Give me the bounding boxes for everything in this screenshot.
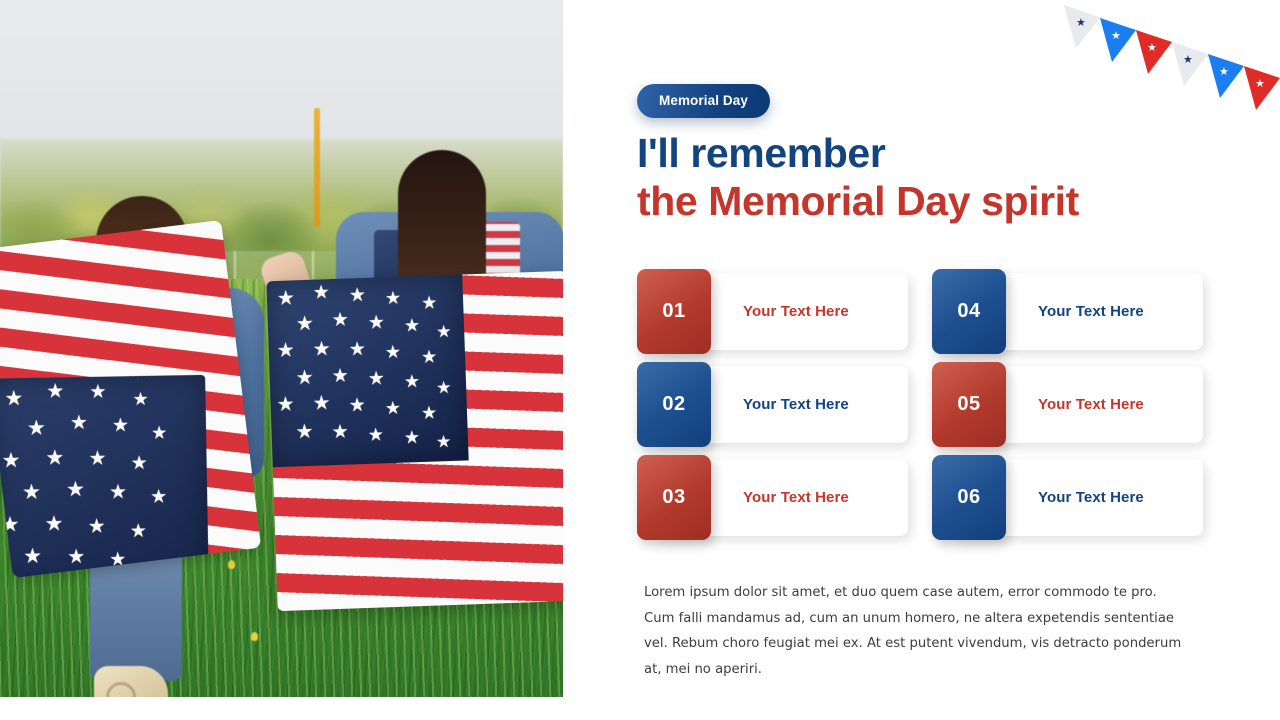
card-number: 02	[637, 362, 711, 447]
numbered-card[interactable]: 03 Your Text Here	[637, 455, 908, 540]
card-label: Your Text Here	[1006, 455, 1144, 540]
flag-union: ★ ★ ★ ★ ★ ★ ★ ★ ★ ★ ★ ★ ★ ★ ★ ★ ★ ★ ★ ★	[0, 375, 209, 578]
person-right-flag: ★ ★ ★ ★ ★ ★ ★ ★ ★ ★ ★ ★ ★ ★ ★ ★ ★ ★ ★ ★	[266, 271, 563, 611]
photo-flower	[251, 632, 258, 641]
flag-union: ★ ★ ★ ★ ★ ★ ★ ★ ★ ★ ★ ★ ★ ★ ★ ★ ★ ★ ★ ★	[266, 274, 468, 467]
numbered-card[interactable]: 05 Your Text Here	[932, 362, 1203, 447]
card-label: Your Text Here	[1006, 362, 1144, 447]
card-number: 05	[932, 362, 1006, 447]
card-number: 03	[637, 455, 711, 540]
memorial-day-badge[interactable]: Memorial Day	[637, 84, 770, 118]
person-left-flag: ★ ★ ★ ★ ★ ★ ★ ★ ★ ★ ★ ★ ★ ★ ★ ★ ★ ★ ★ ★	[0, 220, 261, 578]
hero-photo: ★ ★ ★ ★ ★ ★ ★ ★ ★ ★ ★ ★ ★ ★ ★ ★ ★ ★ ★ ★	[0, 0, 563, 697]
numbered-cards-grid: 01 Your Text Here 04 Your Text Here 02 Y…	[637, 269, 1203, 540]
body-paragraph: Lorem ipsum dolor sit amet, et duo quem …	[644, 580, 1186, 683]
numbered-card[interactable]: 06 Your Text Here	[932, 455, 1203, 540]
content-panel: Memorial Day I'll remember the Memorial …	[637, 0, 1280, 720]
numbered-card[interactable]: 04 Your Text Here	[932, 269, 1203, 354]
photo-person-right: ★ ★ ★ ★ ★ ★ ★ ★ ★ ★ ★ ★ ★ ★ ★ ★ ★ ★ ★ ★	[330, 150, 563, 696]
card-number: 06	[932, 455, 1006, 540]
photo-person-left: ★ ★ ★ ★ ★ ★ ★ ★ ★ ★ ★ ★ ★ ★ ★ ★ ★ ★ ★ ★	[38, 196, 238, 696]
photo-yellow-pole	[314, 108, 320, 226]
card-label: Your Text Here	[1006, 269, 1144, 354]
numbered-card[interactable]: 01 Your Text Here	[637, 269, 908, 354]
page-title: I'll remember the Memorial Day spirit	[637, 130, 1257, 225]
numbered-card[interactable]: 02 Your Text Here	[637, 362, 908, 447]
title-line-2: the Memorial Day spirit	[637, 178, 1257, 226]
card-label: Your Text Here	[711, 362, 849, 447]
card-number: 04	[932, 269, 1006, 354]
card-label: Your Text Here	[711, 269, 849, 354]
card-label: Your Text Here	[711, 455, 849, 540]
card-number: 01	[637, 269, 711, 354]
title-line-1: I'll remember	[637, 130, 1257, 178]
